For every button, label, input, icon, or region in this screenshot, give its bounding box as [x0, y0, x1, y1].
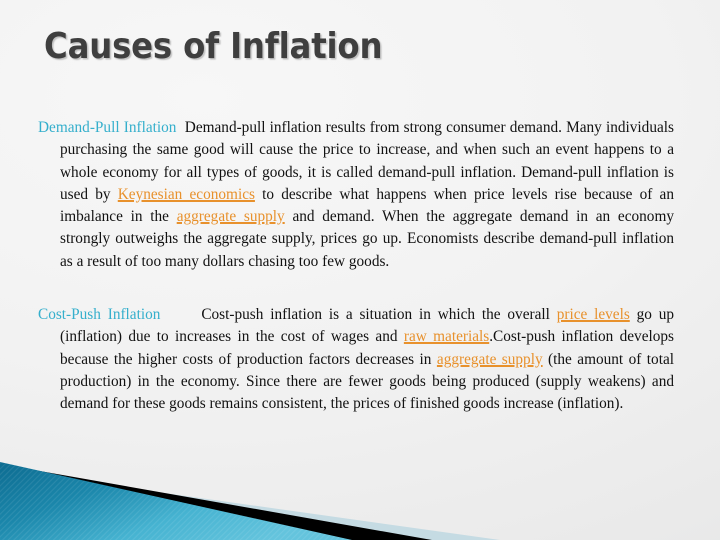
page-title: Causes of Inflation [44, 26, 664, 67]
teal-wedge [0, 462, 352, 540]
link-aggregate-supply-1[interactable]: aggregate supply [177, 208, 285, 225]
link-aggregate-supply-2[interactable]: aggregate supply [437, 351, 543, 368]
black-band [0, 464, 432, 540]
link-keynesian-economics[interactable]: Keynesian economics [118, 186, 255, 203]
link-raw-materials[interactable]: raw materials [404, 328, 489, 345]
term-gap-1 [176, 119, 184, 136]
term-demand-pull-inflation: Demand-Pull Inflation [38, 119, 176, 136]
paragraph-cost-push: Cost-Push Inflation Cost-push inflation … [38, 304, 674, 415]
slide-body: Demand-Pull Inflation Demand-pull inflat… [38, 117, 674, 416]
paragraph-demand-pull: Demand-Pull Inflation Demand-pull inflat… [38, 117, 674, 273]
slide-canvas: Causes of Inflation Demand-Pull Inflatio… [0, 0, 720, 540]
link-price-levels[interactable]: price levels [557, 306, 630, 323]
term-cost-push-inflation: Cost-Push Inflation [38, 306, 160, 323]
corner-decoration [0, 440, 720, 540]
pale-blue-band [0, 470, 720, 540]
term-gap-2 [160, 306, 201, 323]
teal-wedge-texture [0, 462, 352, 540]
paragraph2-text-1: Cost-push inflation is a situation in wh… [201, 306, 556, 323]
